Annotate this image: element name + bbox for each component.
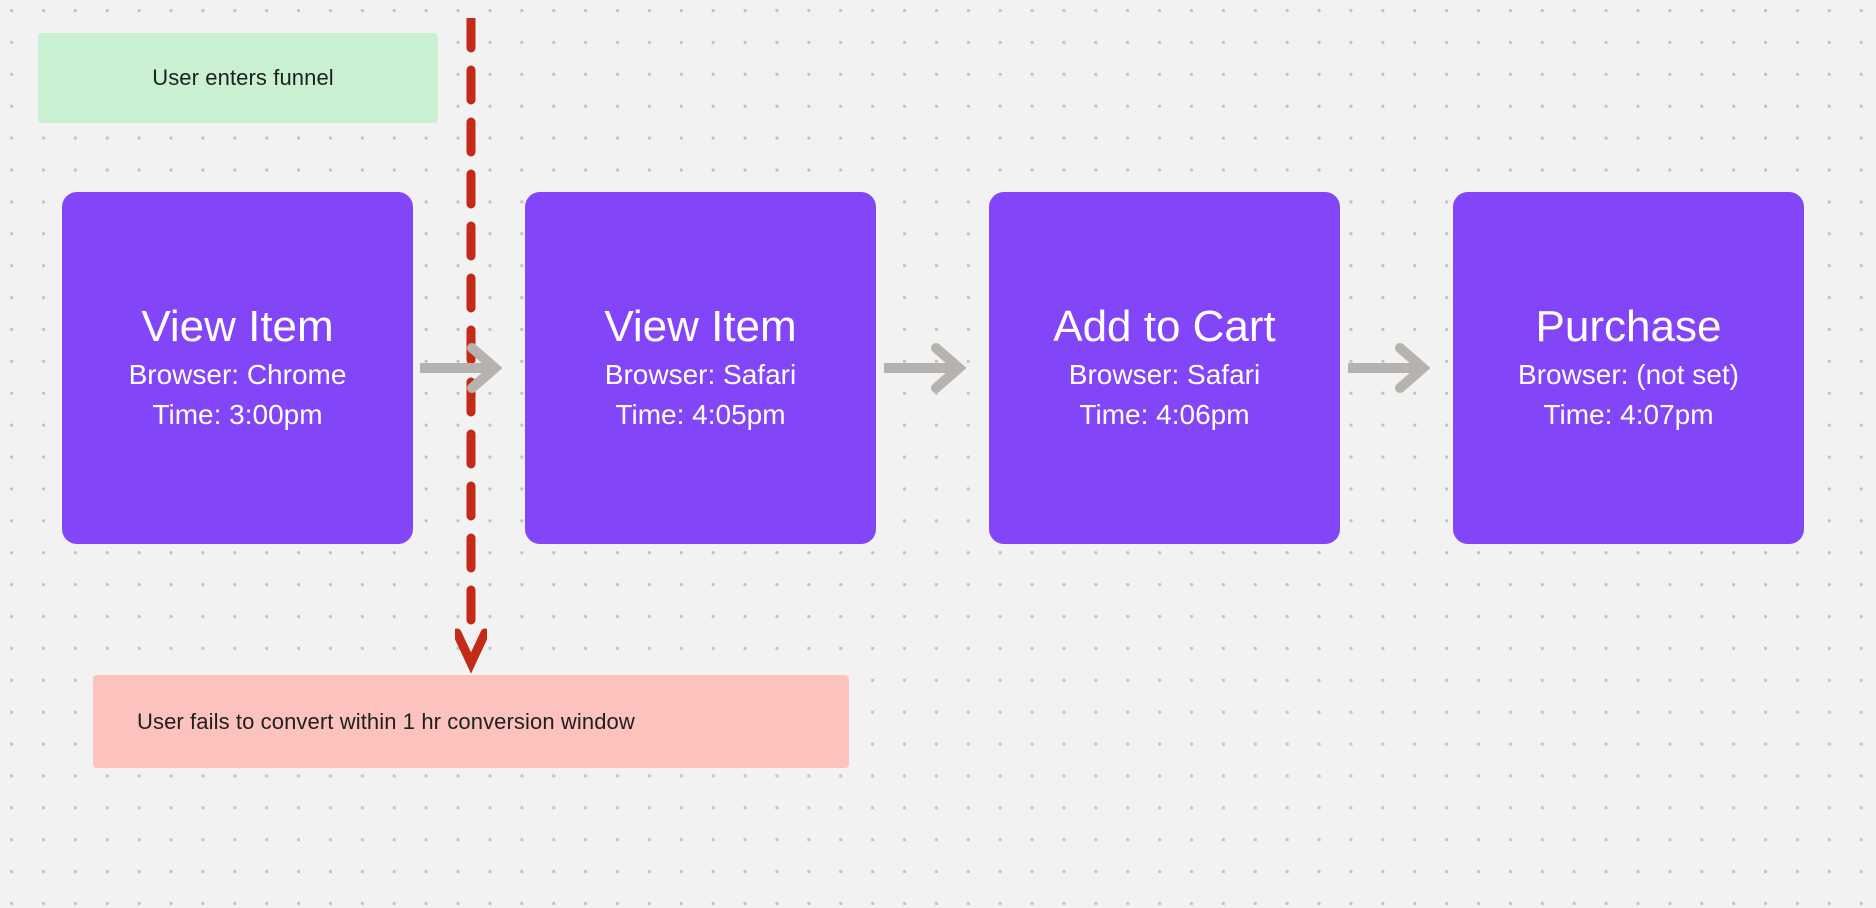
failure-annotation-box: User fails to convert within 1 hr conver…: [93, 675, 849, 768]
funnel-step-list: View Item Browser: Chrome Time: 3:00pm V…: [0, 0, 1876, 908]
step-title: View Item: [141, 302, 333, 351]
funnel-step-card[interactable]: View Item Browser: Chrome Time: 3:00pm: [62, 192, 413, 544]
connector-arrow-icon: [1348, 340, 1432, 396]
funnel-step-card[interactable]: View Item Browser: Safari Time: 4:05pm: [525, 192, 876, 544]
connector-arrow-icon: [884, 340, 968, 396]
step-time: Time: 4:05pm: [615, 395, 785, 435]
step-title: View Item: [604, 302, 796, 351]
step-title: Purchase: [1536, 302, 1722, 351]
step-browser: Browser: Chrome: [129, 355, 347, 395]
connector-arrow-icon: [420, 340, 504, 396]
step-time: Time: 4:06pm: [1079, 395, 1249, 435]
funnel-step-card[interactable]: Add to Cart Browser: Safari Time: 4:06pm: [989, 192, 1340, 544]
failure-annotation-label: User fails to convert within 1 hr conver…: [137, 709, 635, 735]
step-time: Time: 3:00pm: [152, 395, 322, 435]
step-browser: Browser: Safari: [605, 355, 796, 395]
funnel-step-card[interactable]: Purchase Browser: (not set) Time: 4:07pm: [1453, 192, 1804, 544]
step-time: Time: 4:07pm: [1543, 395, 1713, 435]
step-browser: Browser: (not set): [1518, 355, 1739, 395]
diagram-canvas: User enters funnel View Item Browser: Ch…: [0, 0, 1876, 908]
step-browser: Browser: Safari: [1069, 355, 1260, 395]
step-title: Add to Cart: [1053, 302, 1276, 351]
